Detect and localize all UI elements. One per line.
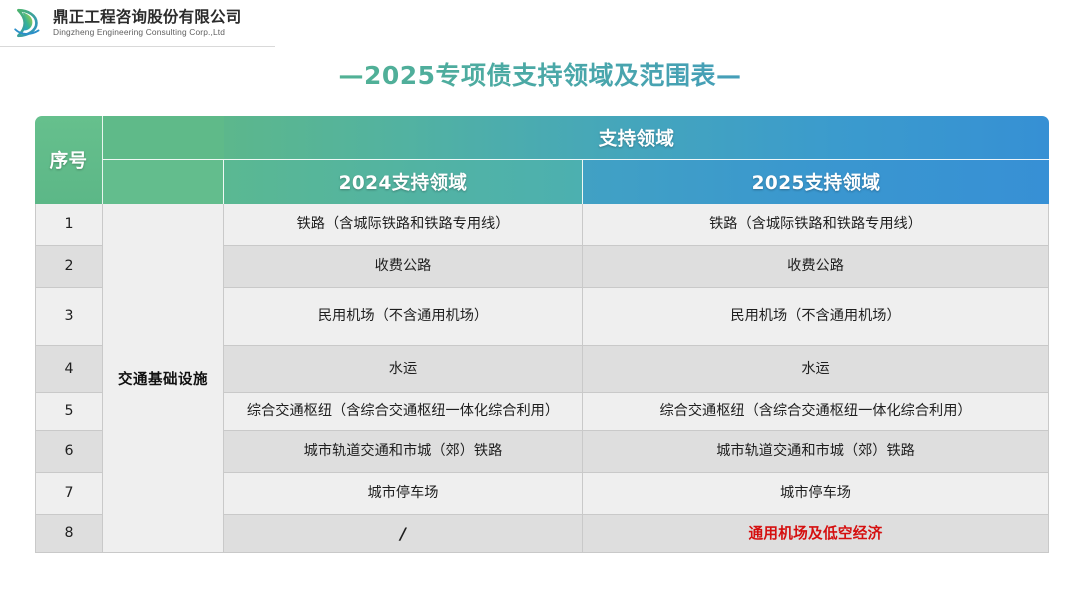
- cell-seq: 3: [35, 288, 103, 346]
- brand-bar: 鼎正工程咨询股份有限公司 Dingzheng Engineering Consu…: [0, 0, 275, 47]
- table-row: 1交通基础设施铁路（含城际铁路和铁路专用线）铁路（含城际铁路和铁路专用线）: [35, 204, 1049, 246]
- cell-seq: 1: [35, 204, 103, 246]
- table-head: 序号 支持领域 2024支持领域 2025支持领域: [35, 116, 1049, 204]
- cell-2025-scope: 水运: [583, 346, 1049, 393]
- cell-2025-scope: 城市轨道交通和市城（郊）铁路: [583, 431, 1049, 473]
- table-head-row-2: 2024支持领域 2025支持领域: [35, 160, 1049, 204]
- cell-2024-scope: 综合交通枢纽（含综合交通枢纽一体化综合利用）: [224, 393, 583, 431]
- header-group-spacer: [103, 116, 224, 160]
- cell-2025-scope: 收费公路: [583, 246, 1049, 288]
- brand-text: 鼎正工程咨询股份有限公司 Dingzheng Engineering Consu…: [53, 10, 241, 37]
- header-col-2024: 2024支持领域: [224, 160, 583, 204]
- header-seq: 序号: [35, 116, 103, 204]
- cell-2024-scope: 城市轨道交通和市城（郊）铁路: [224, 431, 583, 473]
- support-scope-table-wrap: 序号 支持领域 2024支持领域 2025支持领域 1交通基础设施铁路（含城际铁…: [35, 116, 1049, 553]
- brand-name-en: Dingzheng Engineering Consulting Corp.,L…: [53, 28, 241, 36]
- cell-2024-scope: 民用机场（不含通用机场）: [224, 288, 583, 346]
- header-group-label: 支持领域: [224, 116, 1049, 160]
- table-head-row-1: 序号 支持领域: [35, 116, 1049, 160]
- cell-seq: 2: [35, 246, 103, 288]
- cell-seq: 7: [35, 473, 103, 515]
- cell-2024-scope: 铁路（含城际铁路和铁路专用线）: [224, 204, 583, 246]
- cell-seq: 5: [35, 393, 103, 431]
- cell-category: 交通基础设施: [103, 204, 224, 553]
- cell-seq: 6: [35, 431, 103, 473]
- cell-2024-scope: 收费公路: [224, 246, 583, 288]
- cell-2025-scope: 通用机场及低空经济: [583, 515, 1049, 553]
- cell-2024-scope: 水运: [224, 346, 583, 393]
- header-category-spacer: [103, 160, 224, 204]
- cell-2024-scope: 城市停车场: [224, 473, 583, 515]
- cell-seq: 4: [35, 346, 103, 393]
- cell-2025-scope: 民用机场（不含通用机场）: [583, 288, 1049, 346]
- dingzheng-d-leaf-logo-icon: [12, 6, 46, 40]
- cell-2025-scope: 城市停车场: [583, 473, 1049, 515]
- page-title: —2025专项债支持领域及范围表—: [0, 56, 1080, 92]
- cell-2025-scope: 综合交通枢纽（含综合交通枢纽一体化综合利用）: [583, 393, 1049, 431]
- cell-seq: 8: [35, 515, 103, 553]
- brand-name-cn: 鼎正工程咨询股份有限公司: [53, 10, 241, 26]
- support-scope-table: 序号 支持领域 2024支持领域 2025支持领域 1交通基础设施铁路（含城际铁…: [35, 116, 1049, 553]
- cell-2025-scope: 铁路（含城际铁路和铁路专用线）: [583, 204, 1049, 246]
- header-col-2025: 2025支持领域: [583, 160, 1049, 204]
- cell-2024-scope: /: [224, 515, 583, 553]
- table-body: 1交通基础设施铁路（含城际铁路和铁路专用线）铁路（含城际铁路和铁路专用线）2收费…: [35, 204, 1049, 553]
